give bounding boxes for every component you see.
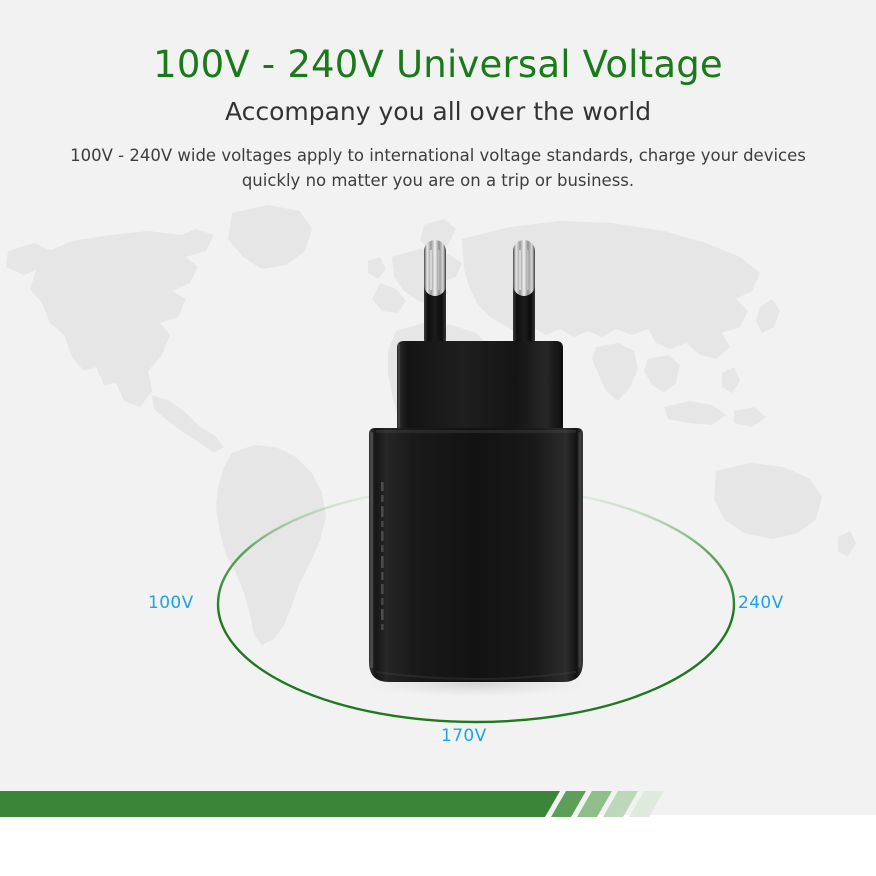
footer-bar-svg <box>0 791 876 817</box>
page-description: 100V - 240V wide voltages apply to inter… <box>43 127 833 194</box>
product-feature-banner: 100V - 240V Universal Voltage Accompany … <box>0 0 876 876</box>
page-title: 100V - 240V Universal Voltage <box>0 0 876 87</box>
page-subtitle: Accompany you all over the world <box>0 87 876 127</box>
voltage-label-max: 240V <box>738 593 784 613</box>
footer-bar-solid <box>0 791 540 817</box>
footer-decorative-bar <box>0 791 876 817</box>
voltage-label-mid: 170V <box>441 726 487 746</box>
header-text-block: 100V - 240V Universal Voltage Accompany … <box>0 0 876 194</box>
voltage-label-min: 100V <box>148 593 194 613</box>
bottom-white-area <box>0 815 876 876</box>
